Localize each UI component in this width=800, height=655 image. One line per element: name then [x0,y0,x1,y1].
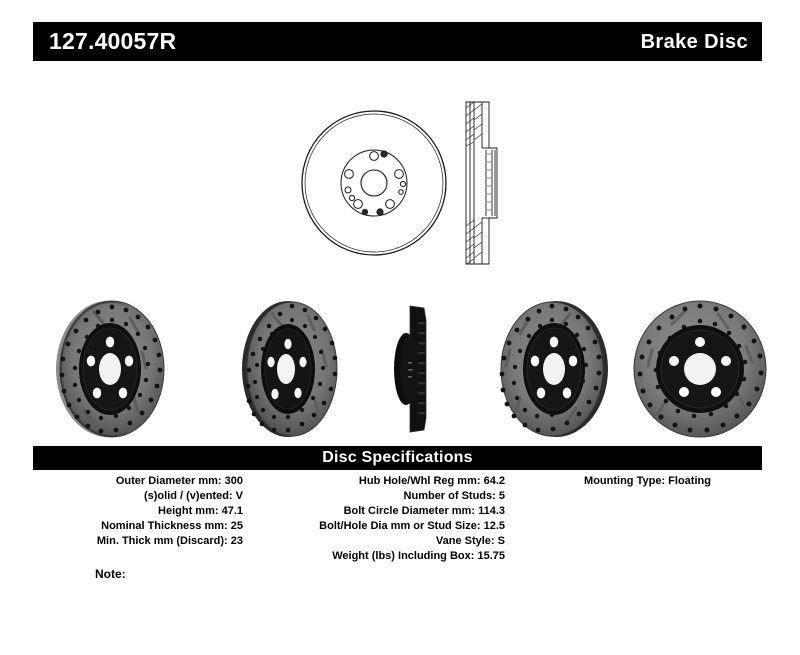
spec-value: Floating [668,475,711,487]
spec-value: 300 [225,475,243,487]
spec-row: Vane Style: S [265,534,505,549]
spec-value: 15.75 [477,550,505,562]
product-category: Brake Disc [641,32,748,52]
rotor-photo-edge-on [380,298,454,440]
engineering-drawing [296,88,512,283]
spec-label: Hub Hole/Whl Reg mm: [359,475,481,487]
rotor-photo-angled-right [472,298,632,440]
spec-label: Number of Studs: [404,490,496,502]
spec-label: Nominal Thickness mm: [101,520,228,532]
spec-row: Mounting Type: Floating [533,474,762,489]
note-block: Note: [33,568,433,588]
spec-label: Bolt/Hole Dia mm or Stud Size: [319,520,480,532]
spec-value: S [498,535,505,547]
rotor-photo-angled-left-steep [200,298,370,440]
spec-row: Height mm: 47.1 [33,504,243,519]
spec-row: Hub Hole/Whl Reg mm: 64.2 [265,474,505,489]
specifications-title-bar: Disc Specifications [33,446,762,470]
spec-label: Outer Diameter mm: [116,475,222,487]
note-label: Note: [95,568,126,580]
spec-label: Bolt Circle Diameter mm: [344,505,475,517]
rotor-photo-front [628,298,772,440]
spec-label: Weight (lbs) Including Box: [332,550,474,562]
header-bar: 127.40057R Brake Disc [33,22,762,61]
spec-row: Min. Thick mm (Discard): 23 [33,534,243,549]
spec-row: Outer Diameter mm: 300 [33,474,243,489]
spec-value: 114.3 [478,505,505,517]
rotor-photo-angled-left [34,298,194,440]
spec-label: Height mm: [158,505,219,517]
spec-row: Weight (lbs) Including Box: 15.75 [265,549,505,564]
spec-value: 5 [499,490,505,502]
part-number: 127.40057R [49,30,176,53]
spec-sheet: 127.40057R Brake Disc [0,0,800,655]
spec-row: Bolt/Hole Dia mm or Stud Size: 12.5 [265,519,505,534]
spec-value: 47.1 [222,505,243,517]
spec-label: Min. Thick mm (Discard): [97,535,228,547]
spec-value: 25 [231,520,243,532]
spec-row: Nominal Thickness mm: 25 [33,519,243,534]
spec-value: 12.5 [484,520,505,532]
spec-value: 64.2 [484,475,505,487]
spec-column-middle: Hub Hole/Whl Reg mm: 64.2 Number of Stud… [265,474,505,564]
product-photo-row [28,298,772,440]
spec-label: Mounting Type: [584,475,665,487]
spec-column-left: Outer Diameter mm: 300 (s)olid / (v)ente… [33,474,243,549]
spec-row: (s)olid / (v)ented: V [33,489,243,504]
rotor-front-view [302,111,446,255]
specifications-title: Disc Specifications [322,450,473,466]
spec-label: (s)olid / (v)ented: [144,490,233,502]
spec-value: V [236,490,243,502]
spec-label: Vane Style: [436,535,495,547]
spec-row: Bolt Circle Diameter mm: 114.3 [265,504,505,519]
spec-row: Number of Studs: 5 [265,489,505,504]
rotor-cross-section-view [466,102,497,264]
spec-column-right: Mounting Type: Floating [533,474,762,489]
spec-value: 23 [231,535,243,547]
